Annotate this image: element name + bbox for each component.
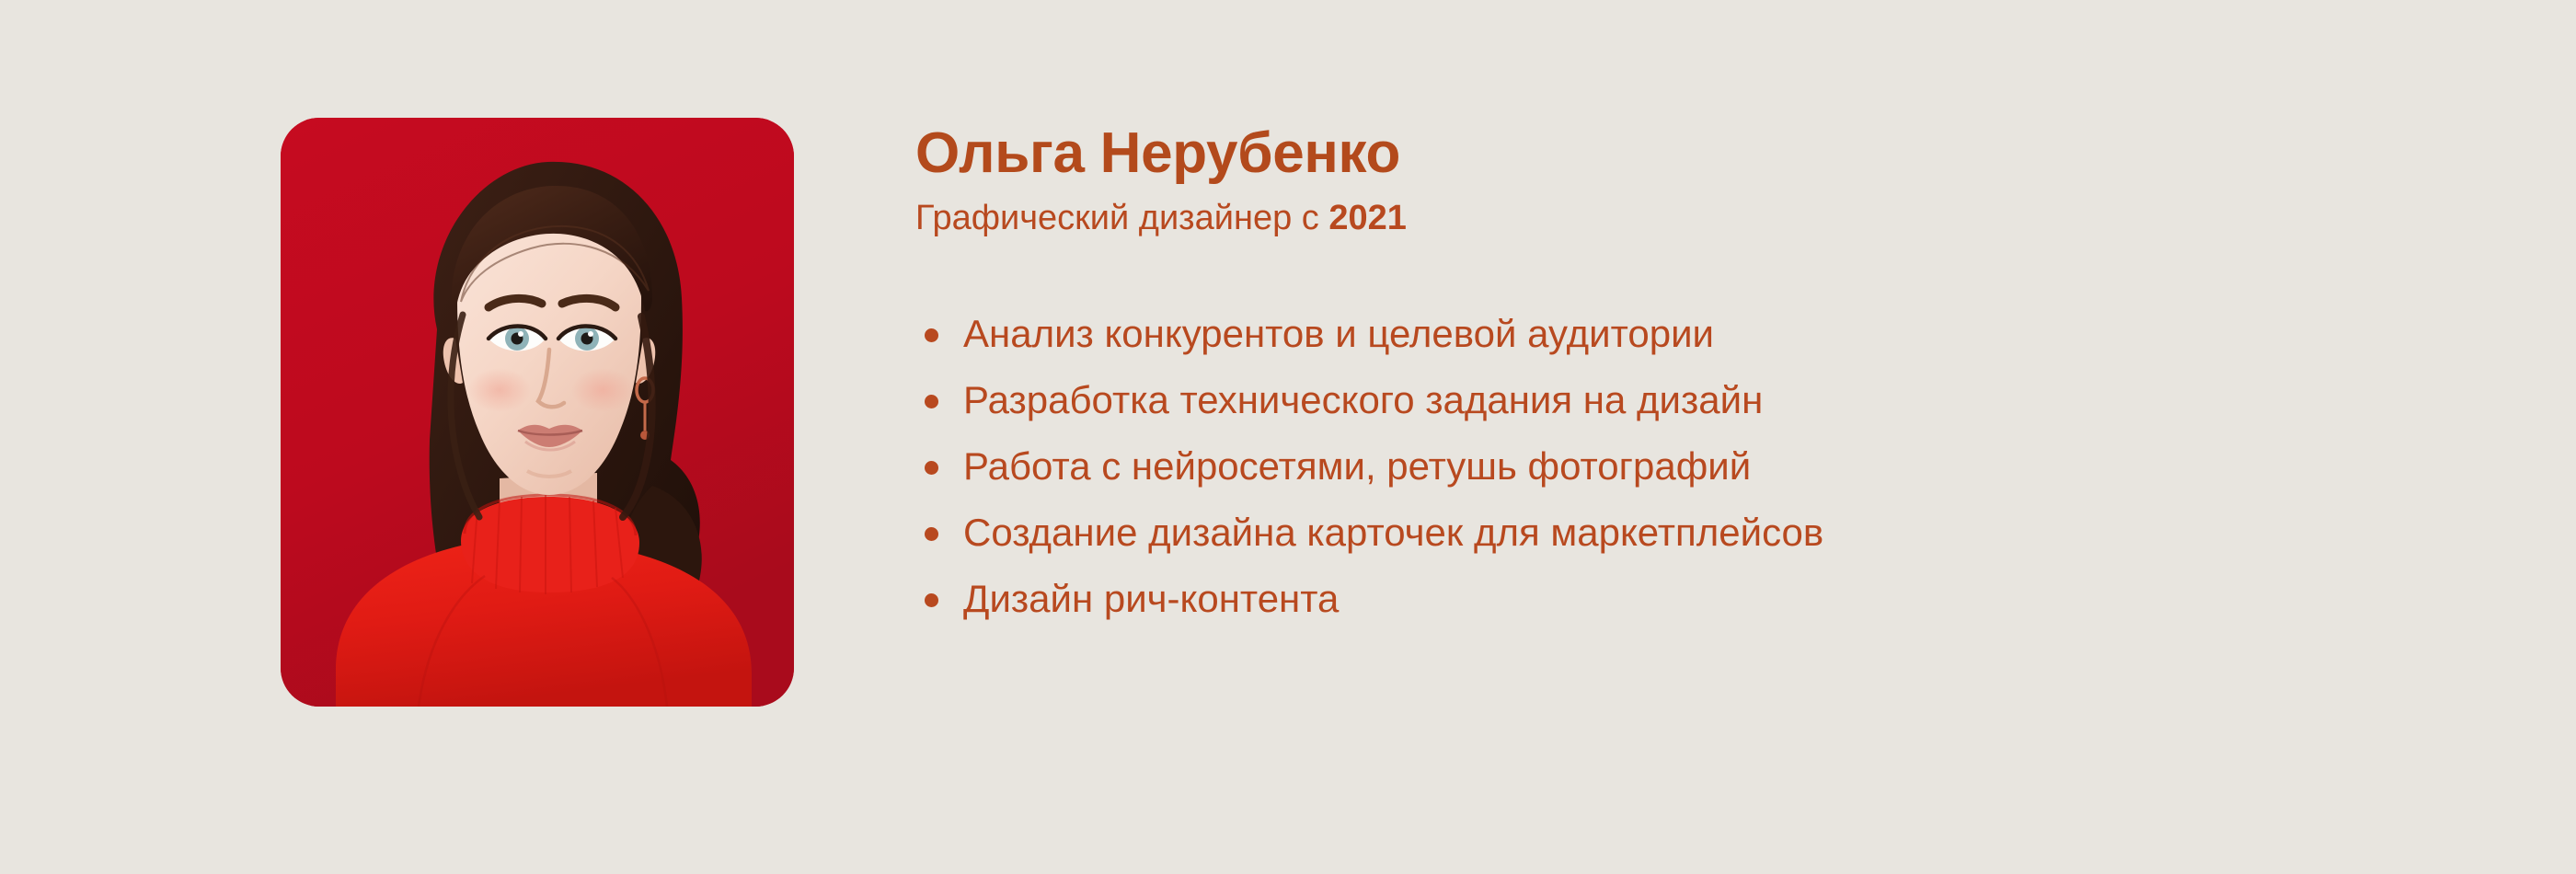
profile-text-column: Ольга Нерубенко Графический дизайнер с 2… <box>915 121 2479 632</box>
list-item: Анализ конкурентов и целевой аудитории <box>915 301 2479 367</box>
list-item-label: Разработка технического задания на дизай… <box>963 378 1763 421</box>
list-item: Разработка технического задания на дизай… <box>915 367 2479 433</box>
bullet-icon <box>925 593 938 607</box>
profile-card: Ольга Нерубенко Графический дизайнер с 2… <box>0 0 2576 874</box>
bullet-icon <box>925 527 938 541</box>
page-title: Ольга Нерубенко <box>915 121 2479 185</box>
skills-list: Анализ конкурентов и целевой аудитории Р… <box>915 301 2479 632</box>
profile-photo <box>281 118 794 707</box>
list-item-label: Работа с нейросетями, ретушь фотографий <box>963 444 1751 488</box>
role-label: Графический дизайнер с <box>915 199 1319 237</box>
list-item-label: Анализ конкурентов и целевой аудитории <box>963 312 1714 355</box>
list-item: Создание дизайна карточек для маркетплей… <box>915 500 2479 566</box>
portrait-illustration <box>281 118 794 707</box>
bullet-icon <box>925 395 938 408</box>
bullet-icon <box>925 328 938 342</box>
role-subtitle: Графический дизайнер с 2021 <box>915 198 2479 240</box>
list-item-label: Дизайн рич-контента <box>963 577 1339 620</box>
list-item: Работа с нейросетями, ретушь фотографий <box>915 433 2479 500</box>
role-year: 2021 <box>1328 199 1407 237</box>
list-item-label: Создание дизайна карточек для маркетплей… <box>963 511 1823 554</box>
list-item: Дизайн рич-контента <box>915 566 2479 632</box>
bullet-icon <box>925 461 938 475</box>
